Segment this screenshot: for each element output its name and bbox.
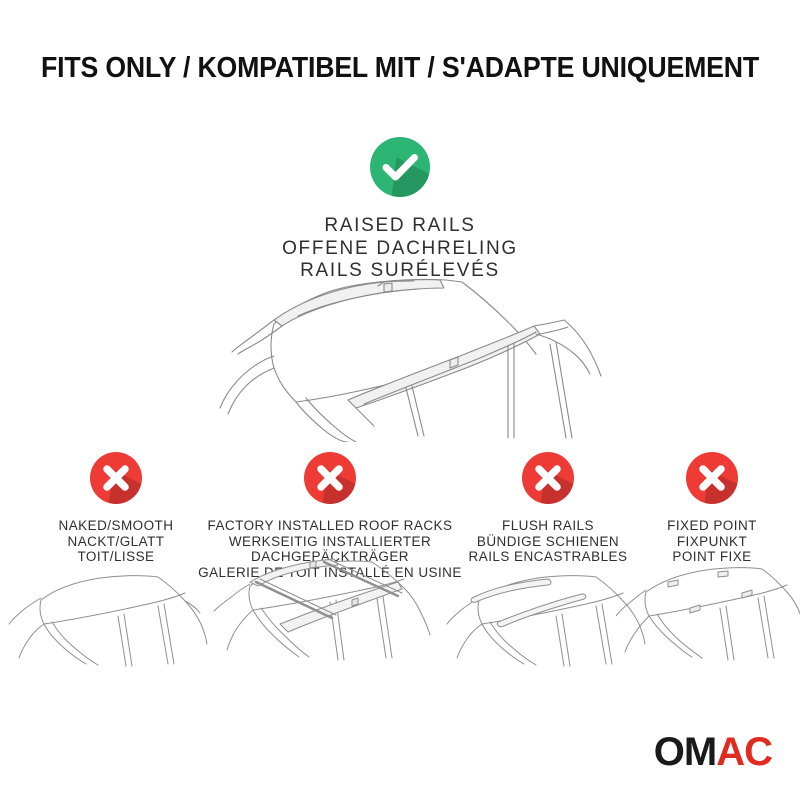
rejected-line-de: FIXPUNKT [667, 534, 757, 550]
cross-circle-icon [522, 452, 574, 504]
rejected-type-naked-smooth: NAKED/SMOOTH NACKT/GLATT TOIT/LISSE [16, 452, 216, 565]
rejected-type-fixed-point: FIXED POINT FIXPUNKT POINT FIXE [642, 452, 782, 565]
approved-line-en: RAISED RAILS [282, 215, 518, 238]
rejected-line-de: BÜNDIGE SCHIENEN [469, 534, 628, 550]
rejected-roof-types: NAKED/SMOOTH NACKT/GLATT TOIT/LISSE FACT… [0, 452, 800, 562]
rejected-line-de-1: WERKSEITIG INSTALLIERTER [198, 534, 462, 550]
car-roof-factory-roof-racks-illustration [212, 552, 444, 672]
car-roof-raised-rails-illustration [178, 276, 628, 442]
logo-text-accent: AC [716, 730, 772, 774]
rejected-line-en: FLUSH RAILS [469, 518, 628, 534]
approved-caption: RAISED RAILS OFFENE DACHRELING RAILS SUR… [282, 215, 518, 283]
car-roof-fixed-point-illustration [616, 552, 800, 672]
check-circle-icon [370, 137, 430, 197]
page-title: FITS ONLY / KOMPATIBEL MIT / S'ADAPTE UN… [32, 52, 768, 85]
cross-circle-icon [304, 452, 356, 504]
rejected-line-en: FIXED POINT [667, 518, 757, 534]
approved-line-de: OFFENE DACHRELING [282, 238, 518, 261]
cross-circle-icon [686, 452, 738, 504]
logo-text-dark: OM [654, 730, 716, 774]
omac-logo: OMAC [654, 732, 772, 772]
approved-roof-type: RAISED RAILS OFFENE DACHRELING RAILS SUR… [0, 137, 800, 283]
rejected-line-en: FACTORY INSTALLED ROOF RACKS [198, 518, 462, 534]
rejected-type-flush-rails: FLUSH RAILS BÜNDIGE SCHIENEN RAILS ENCAS… [448, 452, 648, 565]
rejected-line-en: NAKED/SMOOTH [59, 518, 174, 534]
rejected-line-de: NACKT/GLATT [59, 534, 174, 550]
car-roof-naked-smooth-illustration [8, 556, 208, 676]
cross-circle-icon [90, 452, 142, 504]
